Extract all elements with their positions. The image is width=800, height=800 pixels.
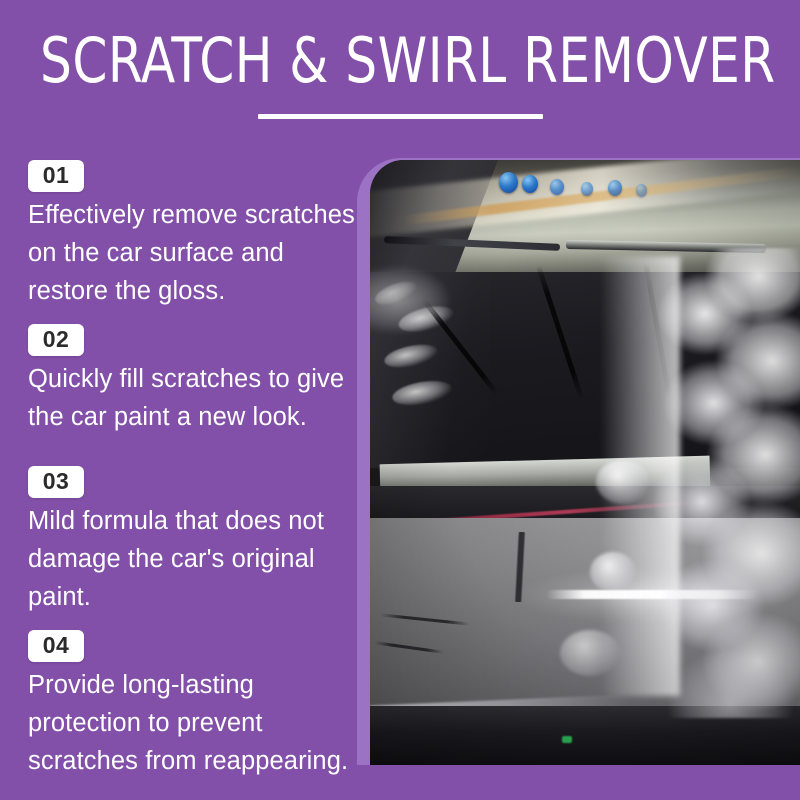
photo-green-indicator-light (562, 736, 572, 743)
feature-item-03: 03 Mild formula that does not damage the… (28, 466, 358, 616)
poster-header: SCRATCH & SWIRL REMOVER (0, 0, 800, 150)
photo-water-bead (550, 179, 564, 195)
product-infographic-poster: SCRATCH & SWIRL REMOVER 01 Effectively r… (0, 0, 800, 800)
photo-water-bead (522, 175, 538, 193)
photo-water-bead (581, 182, 593, 196)
feature-item-04: 04 Provide long-lasting protection to pr… (28, 630, 358, 780)
photo-water-bead (608, 180, 622, 196)
photo-foam-wisp (590, 552, 636, 592)
photo-foam-wisp (596, 460, 650, 504)
feature-list: 01 Effectively remove scratches on the c… (28, 160, 358, 792)
feature-number-badge: 02 (28, 324, 84, 356)
product-photo (370, 160, 800, 765)
photo-foam-wisp (560, 630, 620, 676)
feature-description: Quickly fill scratches to give the car p… (28, 360, 358, 436)
feature-item-01: 01 Effectively remove scratches on the c… (28, 160, 358, 310)
title-divider (258, 114, 543, 119)
photo-water-bead (499, 172, 518, 193)
feature-number-badge: 01 (28, 160, 84, 192)
feature-number-badge: 04 (28, 630, 84, 662)
feature-item-02: 02 Quickly fill scratches to give the ca… (28, 324, 358, 436)
page-title: SCRATCH & SWIRL REMOVER (40, 27, 760, 95)
feature-description: Provide long-lasting protection to preve… (28, 666, 358, 780)
product-photo-frame (357, 158, 800, 765)
photo-foam-suds (638, 248, 800, 718)
photo-foam-left (370, 264, 480, 354)
feature-description: Effectively remove scratches on the car … (28, 196, 358, 310)
feature-number-badge: 03 (28, 466, 84, 498)
feature-description: Mild formula that does not damage the ca… (28, 502, 358, 616)
photo-water-bead (636, 184, 647, 197)
